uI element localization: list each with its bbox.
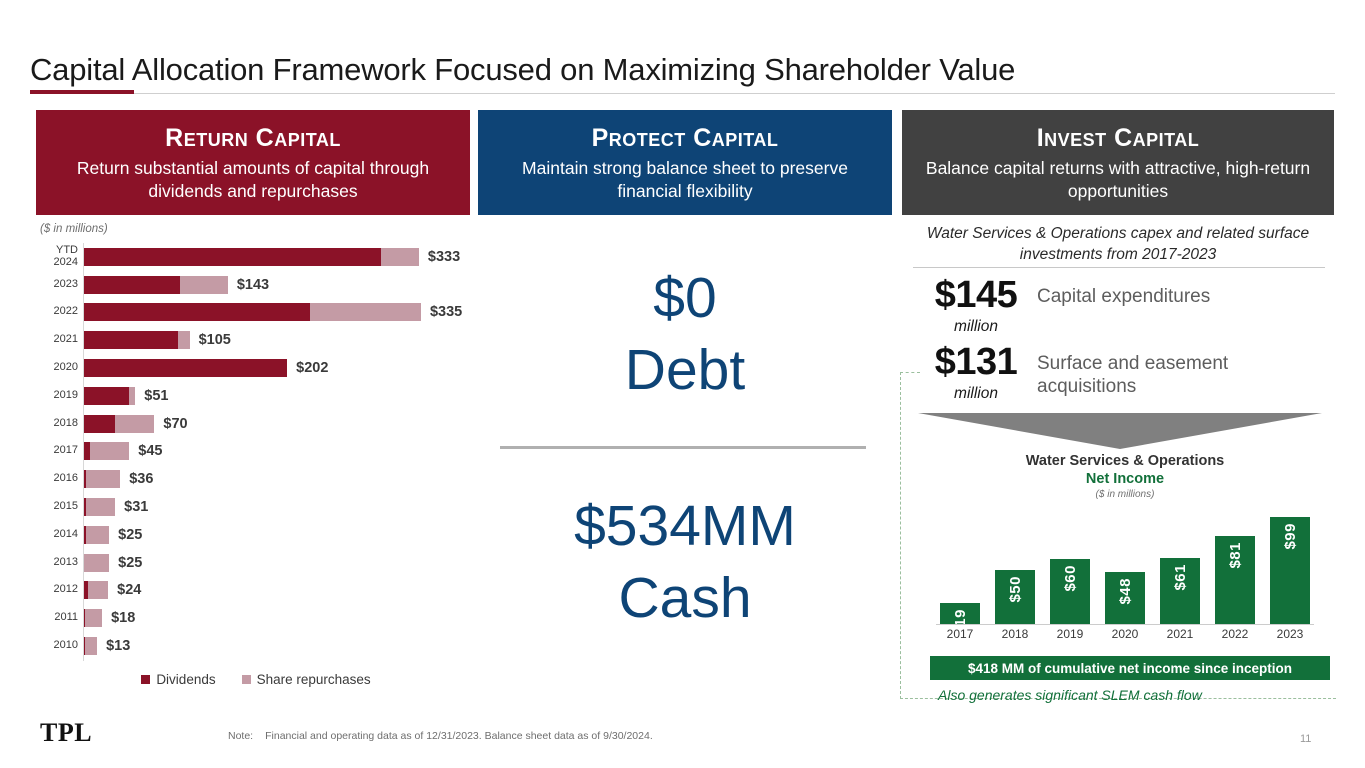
cumulative-net-income-callout: $418 MM of cumulative net income since i… xyxy=(930,656,1330,680)
bar-value-label: $105 xyxy=(199,332,231,348)
middle-divider xyxy=(500,446,866,449)
footnote-label: Note: xyxy=(228,730,253,742)
bar-segment-repurchases xyxy=(84,554,109,572)
stat-capex-label: Capital expenditures xyxy=(1037,276,1210,309)
green-bar-wrapper: $99 xyxy=(1270,517,1310,624)
green-chart-units-label: ($ in millions) xyxy=(920,489,1330,500)
green-bar-value-label: $60 xyxy=(1062,565,1079,592)
bar-track xyxy=(84,637,97,655)
bar-row: 2012$24 xyxy=(36,577,476,605)
bar-value-label: $31 xyxy=(124,499,148,515)
bar-category-label: 2019 xyxy=(34,390,78,402)
legend-label: Share repurchases xyxy=(257,672,371,687)
bar-track xyxy=(84,442,129,460)
green-chart-bars: $19$50$60$48$61$81$99 xyxy=(920,510,1330,624)
banner-protect-title: Protect Capital xyxy=(478,124,892,153)
bar-track xyxy=(84,554,109,572)
green-chart-category-label: 2020 xyxy=(1105,627,1145,641)
bar-segment-repurchases xyxy=(129,387,135,405)
bar-value-label: $13 xyxy=(106,638,130,654)
debt-statistic: $0 Debt xyxy=(478,262,892,407)
green-bar-wrapper: $60 xyxy=(1050,559,1090,624)
bar-category-label: 2014 xyxy=(34,529,78,541)
slem-cash-flow-note: Also generates significant SLEM cash flo… xyxy=(938,687,1202,703)
bar-segment-repurchases xyxy=(88,581,108,599)
bar-segment-repurchases xyxy=(310,303,421,321)
bar-value-label: $45 xyxy=(138,443,162,459)
tpl-logo: TPL xyxy=(40,718,92,748)
bar-track xyxy=(84,387,135,405)
debt-label: Debt xyxy=(478,334,892,406)
bar-segment-repurchases xyxy=(86,498,115,516)
left-chart-legend: DividendsShare repurchases xyxy=(36,672,476,687)
bar-row: YTD2024$333 xyxy=(36,243,476,271)
bar-row: 2020$202 xyxy=(36,354,476,382)
green-bar-wrapper: $50 xyxy=(995,570,1035,624)
green-chart-subtitle: Net Income xyxy=(920,470,1330,488)
page-number: 11 xyxy=(1300,733,1311,745)
title-rule xyxy=(30,93,1335,94)
bar-track xyxy=(84,581,108,599)
bar-segment-repurchases xyxy=(381,248,419,266)
green-chart-category-label: 2018 xyxy=(995,627,1035,641)
green-chart-axis xyxy=(936,624,1314,625)
green-chart-category-label: 2022 xyxy=(1215,627,1255,641)
bar-track xyxy=(84,359,287,377)
green-bar-value-label: $48 xyxy=(1117,578,1134,605)
bar-value-label: $25 xyxy=(118,527,142,543)
bar-value-label: $335 xyxy=(430,304,462,320)
bar-track xyxy=(84,498,115,516)
bar-row: 2022$335 xyxy=(36,299,476,327)
green-bar: $19 xyxy=(940,603,980,624)
banner-return-capital: Return Capital Return substantial amount… xyxy=(36,110,470,215)
green-bar: $99 xyxy=(1270,517,1310,624)
bar-segment-repurchases xyxy=(115,415,154,433)
bar-track xyxy=(84,303,421,321)
green-chart-category-label: 2021 xyxy=(1160,627,1200,641)
bar-value-label: $143 xyxy=(237,277,269,293)
bar-segment-dividends xyxy=(84,331,178,349)
bar-category-label: 2022 xyxy=(34,307,78,319)
bar-row: 2013$25 xyxy=(36,549,476,577)
green-bar-wrapper: $61 xyxy=(1160,558,1200,624)
bar-category-label: 2013 xyxy=(34,557,78,569)
bar-category-label: 2011 xyxy=(34,612,78,624)
bar-segment-repurchases xyxy=(85,637,97,655)
legend-swatch xyxy=(242,675,251,684)
bar-track xyxy=(84,276,228,294)
banner-return-subtitle: Return substantial amounts of capital th… xyxy=(36,157,470,204)
bar-track xyxy=(84,331,190,349)
bar-row: 2010$13 xyxy=(36,632,476,660)
legend-item: Share repurchases xyxy=(242,672,371,687)
green-bar-value-label: $61 xyxy=(1172,564,1189,591)
bar-track xyxy=(84,415,154,433)
invest-caption: Water Services & Operations capex and re… xyxy=(908,224,1328,266)
bar-segment-repurchases xyxy=(90,442,129,460)
invest-caption-rule xyxy=(913,267,1325,268)
bar-segment-dividends xyxy=(84,387,129,405)
bar-value-label: $202 xyxy=(296,360,328,376)
bar-category-label: 2020 xyxy=(34,362,78,374)
bar-track xyxy=(84,609,102,627)
green-chart-category-label: 2019 xyxy=(1050,627,1090,641)
green-bar-value-label: $50 xyxy=(1007,576,1024,603)
footnote-text: Financial and operating data as of 12/31… xyxy=(265,730,653,742)
capital-returned-bar-chart: YTD2024$3332023$1432022$3352021$1052020$… xyxy=(36,243,476,661)
bar-track xyxy=(84,526,109,544)
footnote: Note:Financial and operating data as of … xyxy=(228,730,653,742)
legend-swatch xyxy=(141,675,150,684)
cash-value: $534MM xyxy=(478,490,892,562)
banner-invest-title: Invest Capital xyxy=(902,124,1334,153)
bar-value-label: $24 xyxy=(117,582,141,598)
dashed-connector-top xyxy=(900,372,920,373)
bar-category-label: 2012 xyxy=(34,585,78,597)
page-title: Capital Allocation Framework Focused on … xyxy=(30,52,1015,88)
bar-segment-dividends xyxy=(84,303,310,321)
bar-value-label: $70 xyxy=(163,416,187,432)
stat-capex-number: $145 xyxy=(915,276,1037,314)
left-chart-rows: YTD2024$3332023$1432022$3352021$1052020$… xyxy=(36,243,476,660)
banner-invest-capital: Invest Capital Balance capital returns w… xyxy=(902,110,1334,215)
green-bar: $48 xyxy=(1105,572,1145,624)
legend-label: Dividends xyxy=(156,672,215,687)
bar-row: 2014$25 xyxy=(36,521,476,549)
bar-track xyxy=(84,248,419,266)
bar-segment-repurchases xyxy=(178,331,190,349)
bar-category-label: 2015 xyxy=(34,501,78,513)
bar-row: 2017$45 xyxy=(36,438,476,466)
bar-row: 2011$18 xyxy=(36,604,476,632)
bar-row: 2021$105 xyxy=(36,326,476,354)
bar-category-label: 2010 xyxy=(34,640,78,652)
bar-segment-dividends xyxy=(84,359,287,377)
bar-segment-repurchases xyxy=(85,609,102,627)
banner-protect-capital: Protect Capital Maintain strong balance … xyxy=(478,110,892,215)
stat-capex-unit: million xyxy=(915,318,1037,336)
green-chart-title: Water Services & Operations xyxy=(920,452,1330,470)
bar-value-label: $51 xyxy=(144,388,168,404)
bar-value-label: $18 xyxy=(111,610,135,626)
bar-segment-repurchases xyxy=(86,526,109,544)
legend-item: Dividends xyxy=(141,672,215,687)
cash-statistic: $534MM Cash xyxy=(478,490,892,635)
left-chart-units-label: ($ in millions) xyxy=(40,223,108,235)
bar-row: 2018$70 xyxy=(36,410,476,438)
bar-row: 2019$51 xyxy=(36,382,476,410)
cash-label: Cash xyxy=(478,562,892,634)
banner-return-title: Return Capital xyxy=(36,124,470,153)
green-bar: $61 xyxy=(1160,558,1200,624)
bar-category-label: 2016 xyxy=(34,473,78,485)
title-accent-bar xyxy=(30,90,134,94)
banner-protect-subtitle: Maintain strong balance sheet to preserv… xyxy=(478,157,892,204)
green-bar: $50 xyxy=(995,570,1035,624)
bar-segment-dividends xyxy=(84,248,381,266)
bar-category-label: 2018 xyxy=(34,418,78,430)
green-chart-category-label: 2017 xyxy=(940,627,980,641)
green-chart-category-label: 2023 xyxy=(1270,627,1310,641)
stat-capital-expenditures: $145 million Capital expenditures xyxy=(915,276,1210,336)
debt-value: $0 xyxy=(478,262,892,334)
bar-segment-dividends xyxy=(84,276,180,294)
bar-segment-repurchases xyxy=(86,470,120,488)
bar-value-label: $25 xyxy=(118,555,142,571)
green-bar-wrapper: $81 xyxy=(1215,536,1255,624)
green-bar-wrapper: $48 xyxy=(1105,572,1145,624)
green-bar-value-label: $81 xyxy=(1227,542,1244,569)
bar-row: 2023$143 xyxy=(36,271,476,299)
bar-track xyxy=(84,470,120,488)
bar-value-label: $36 xyxy=(129,471,153,487)
green-bar: $81 xyxy=(1215,536,1255,624)
bar-segment-repurchases xyxy=(180,276,228,294)
funnel-arrow-icon xyxy=(918,413,1322,449)
slide-canvas: Capital Allocation Framework Focused on … xyxy=(0,0,1365,768)
bar-category-label: 2023 xyxy=(34,279,78,291)
bar-category-label: YTD2024 xyxy=(34,245,78,269)
bar-category-label: 2017 xyxy=(34,446,78,458)
green-bar: $60 xyxy=(1050,559,1090,624)
banner-invest-subtitle: Balance capital returns with attractive,… xyxy=(902,157,1334,204)
green-bar-value-label: $99 xyxy=(1282,523,1299,550)
green-chart-categories: 2017201820192020202120222023 xyxy=(920,627,1330,641)
bar-segment-dividends xyxy=(84,415,115,433)
bar-row: 2016$36 xyxy=(36,465,476,493)
bar-row: 2015$31 xyxy=(36,493,476,521)
bar-value-label: $333 xyxy=(428,249,460,265)
green-bar-wrapper: $19 xyxy=(940,603,980,624)
water-services-net-income-chart: Water Services & Operations Net Income (… xyxy=(920,452,1330,652)
bar-category-label: 2021 xyxy=(34,334,78,346)
